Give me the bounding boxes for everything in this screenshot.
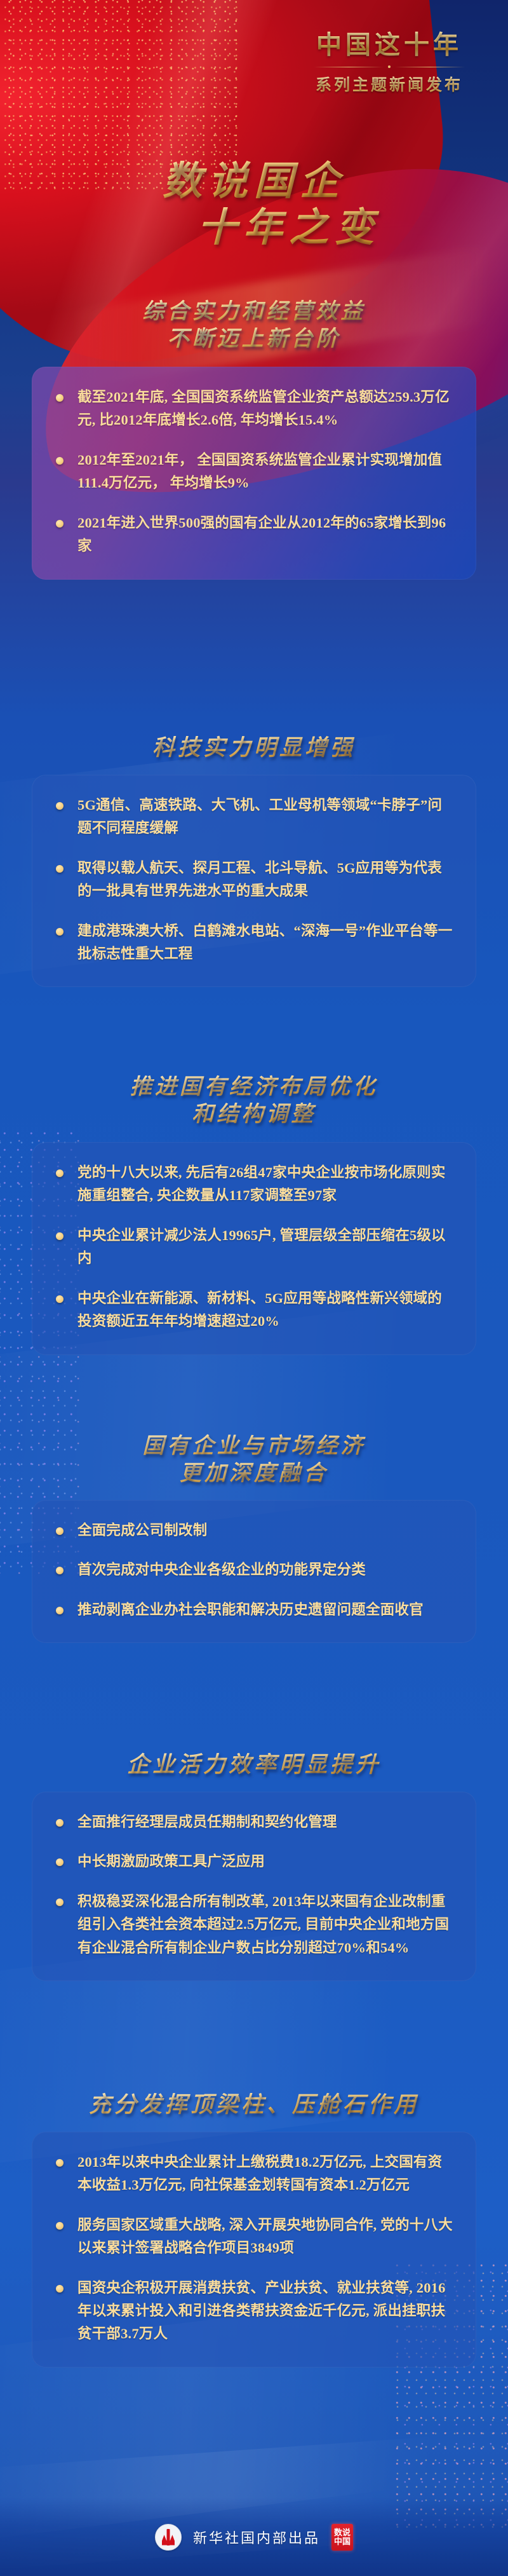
section-heading-line-1: 充分发挥顶梁柱、压舱石作用: [0, 2091, 508, 2119]
bullet-item: 服务国家区域重大战略, 深入开展央地协同合作, 党的十八大以来累计签署战略合作项…: [51, 2214, 455, 2260]
section-heading-line-1: 科技实力明显增强: [0, 734, 508, 762]
bullet-item: 积极稳妥深化混合所有制改革, 2013年以来国有企业改制重组引入各类社会资本超过…: [51, 1890, 455, 1959]
section-card: 党的十八大以来, 先后有26组47家中央企业按市场化原则实施重组整合, 央企数量…: [32, 1142, 476, 1355]
section-5: 企业活力效率明显提升全面推行经理层成员任期制和契约化管理中长期激励政策工具广泛应…: [0, 1751, 508, 1981]
section-heading-line-2: 和结构调整: [0, 1101, 508, 1129]
bullet-item: 全面推行经理层成员任期制和契约化管理: [51, 1811, 455, 1834]
section-4: 国有企业与市场经济更加深度融合全面完成公司制改制首次完成对中央企业各级企业的功能…: [0, 1433, 508, 1643]
bullet-list: 5G通信、高速铁路、大飞机、工业母机等领域“卡脖子”问题不同程度缓解取得以载人航…: [51, 794, 455, 966]
section-heading: 企业活力效率明显提升: [0, 1751, 508, 1779]
section-heading-line-2: 更加深度融合: [0, 1461, 508, 1488]
section-6: 充分发挥顶梁柱、压舱石作用2013年以来中央企业累计上缴税费18.2万亿元, 上…: [0, 2091, 508, 2368]
page-title-line-1: 数说国企: [0, 159, 508, 205]
brand-subtitle: 系列主题新闻发布: [284, 72, 494, 95]
xinhua-logo-icon: [155, 2524, 182, 2551]
bullet-item: 2012年至2021年， 全国国资系统监管企业累计实现增加值111.4万亿元， …: [51, 449, 455, 495]
section-heading-line-2: 不断迈上新台阶: [0, 326, 508, 353]
bullet-item: 全面完成公司制改制: [51, 1519, 455, 1542]
section-1: 综合实力和经营效益不断迈上新台阶截至2021年底, 全国国资系统监管企业资产总额…: [0, 299, 508, 580]
seal-line-2: 中国: [334, 2537, 351, 2546]
bullet-item: 党的十八大以来, 先后有26组47家中央企业按市场化原则实施重组整合, 央企数量…: [51, 1161, 455, 1208]
bullet-item: 2013年以来中央企业累计上缴税费18.2万亿元, 上交国有资本收益1.3万亿元…: [51, 2151, 455, 2197]
section-3: 推进国有经济布局优化和结构调整党的十八大以来, 先后有26组47家中央企业按市场…: [0, 1074, 508, 1355]
brand-divider: [284, 65, 494, 68]
infographic-poster: 中国这十年 系列主题新闻发布 数说国企 十年之变 综合实力和经营效益不断迈上新台…: [0, 0, 508, 2576]
section-heading: 国有企业与市场经济更加深度融合: [0, 1433, 508, 1487]
seal-line-1: 数说: [334, 2528, 351, 2537]
bullet-item: 建成港珠澳大桥、白鹤滩水电站、“深海一号”作业平台等一批标志性重大工程: [51, 920, 455, 966]
bullet-item: 推动剥离企业办社会职能和解决历史遗留问题全面收官: [51, 1598, 455, 1621]
bullet-item: 国资央企积极开展消费扶贫、产业扶贫、就业扶贫等, 2016年以来累计投入和引进各…: [51, 2277, 455, 2346]
section-card: 全面完成公司制改制首次完成对中央企业各级企业的功能界定分类推动剥离企业办社会职能…: [32, 1500, 476, 1643]
bullet-item: 中央企业累计减少法人19965户, 管理层级全部压缩在5级以内: [51, 1224, 455, 1271]
bullet-item: 2021年进入世界500强的国有企业从2012年的65家增长到96家: [51, 512, 455, 558]
brand-lockup: 中国这十年 系列主题新闻发布: [284, 31, 494, 95]
section-2: 科技实力明显增强5G通信、高速铁路、大飞机、工业母机等领域“卡脖子”问题不同程度…: [0, 734, 508, 987]
section-card: 全面推行经理层成员任期制和契约化管理中长期激励政策工具广泛应用积极稳妥深化混合所…: [32, 1792, 476, 1981]
section-heading: 推进国有经济布局优化和结构调整: [0, 1074, 508, 1128]
page-title-line-2: 十年之变: [0, 205, 508, 252]
shuoshuo-zhongguo-seal-icon: 数说 中国: [331, 2524, 353, 2551]
bullet-item: 取得以载人航天、探月工程、北斗导航、5G应用等为代表的一批具有世界先进水平的重大…: [51, 857, 455, 903]
section-heading-line-1: 综合实力和经营效益: [0, 299, 508, 326]
section-heading-line-1: 推进国有经济布局优化: [0, 1074, 508, 1101]
bullet-item: 首次完成对中央企业各级企业的功能界定分类: [51, 1558, 455, 1581]
bullet-item: 截至2021年底, 全国国资系统监管企业资产总额达259.3万亿元, 比2012…: [51, 386, 455, 432]
section-heading: 充分发挥顶梁柱、压舱石作用: [0, 2091, 508, 2119]
section-card: 截至2021年底, 全国国资系统监管企业资产总额达259.3万亿元, 比2012…: [32, 367, 476, 580]
section-heading: 科技实力明显增强: [0, 734, 508, 762]
bullet-list: 截至2021年底, 全国国资系统监管企业资产总额达259.3万亿元, 比2012…: [51, 386, 455, 558]
bullet-item: 5G通信、高速铁路、大飞机、工业母机等领域“卡脖子”问题不同程度缓解: [51, 794, 455, 840]
footer-credit-text: 新华社国内部出品: [193, 2527, 320, 2547]
bullet-item: 中央企业在新能源、新材料、5G应用等战略性新兴领域的投资额近五年年均增速超过20…: [51, 1287, 455, 1333]
brand-title: 中国这十年: [284, 31, 494, 60]
bullet-list: 全面推行经理层成员任期制和契约化管理中长期激励政策工具广泛应用积极稳妥深化混合所…: [51, 1811, 455, 1959]
footer: 新华社国内部出品 数说 中国: [0, 2498, 508, 2576]
bullet-list: 党的十八大以来, 先后有26组47家中央企业按市场化原则实施重组整合, 央企数量…: [51, 1161, 455, 1333]
section-heading: 综合实力和经营效益不断迈上新台阶: [0, 299, 508, 353]
section-card: 5G通信、高速铁路、大飞机、工业母机等领域“卡脖子”问题不同程度缓解取得以载人航…: [32, 775, 476, 988]
bullet-list: 全面完成公司制改制首次完成对中央企业各级企业的功能界定分类推动剥离企业办社会职能…: [51, 1519, 455, 1621]
bullet-list: 2013年以来中央企业累计上缴税费18.2万亿元, 上交国有资本收益1.3万亿元…: [51, 2151, 455, 2346]
section-heading-line-1: 企业活力效率明显提升: [0, 1751, 508, 1779]
section-heading-line-1: 国有企业与市场经济: [0, 1433, 508, 1461]
page-title: 数说国企 十年之变: [0, 159, 508, 252]
section-card: 2013年以来中央企业累计上缴税费18.2万亿元, 上交国有资本收益1.3万亿元…: [32, 2132, 476, 2368]
bullet-item: 中长期激励政策工具广泛应用: [51, 1850, 455, 1873]
